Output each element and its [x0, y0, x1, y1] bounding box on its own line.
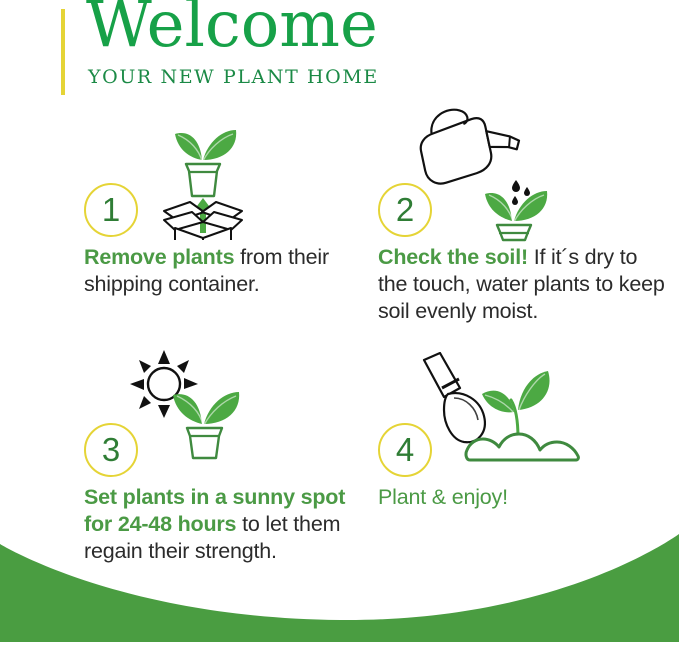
box-with-plant-icon: [142, 108, 262, 245]
page-subtitle: YOUR NEW PLANT HOME: [88, 68, 379, 87]
step-number-2: 2: [396, 193, 414, 226]
step-text-1: Remove plants from their shipping contai…: [84, 244, 376, 298]
page-header: Welcome YOUR NEW PLANT HOME: [0, 0, 679, 104]
step-number-4: 4: [396, 433, 414, 466]
step-text-2: Check the soil! If it´s dry to the touch…: [378, 244, 670, 325]
page-title: Welcome: [86, 0, 378, 57]
bottom-green-wave: [0, 532, 679, 642]
step-number-1: 1: [102, 193, 120, 226]
step-text-4: Plant & enjoy!: [378, 484, 670, 511]
step-lead-1: Remove plants: [84, 245, 234, 269]
step-lead-2: Check the soil!: [378, 245, 528, 269]
trowel-and-seedling-icon: [418, 352, 588, 472]
watering-can-icon: [416, 104, 566, 249]
step-number-badge-1: 1: [84, 183, 138, 237]
step-lead-4: Plant & enjoy!: [378, 485, 508, 509]
sun-and-plant-icon: [116, 348, 256, 473]
header-accent-bar: [61, 9, 65, 95]
